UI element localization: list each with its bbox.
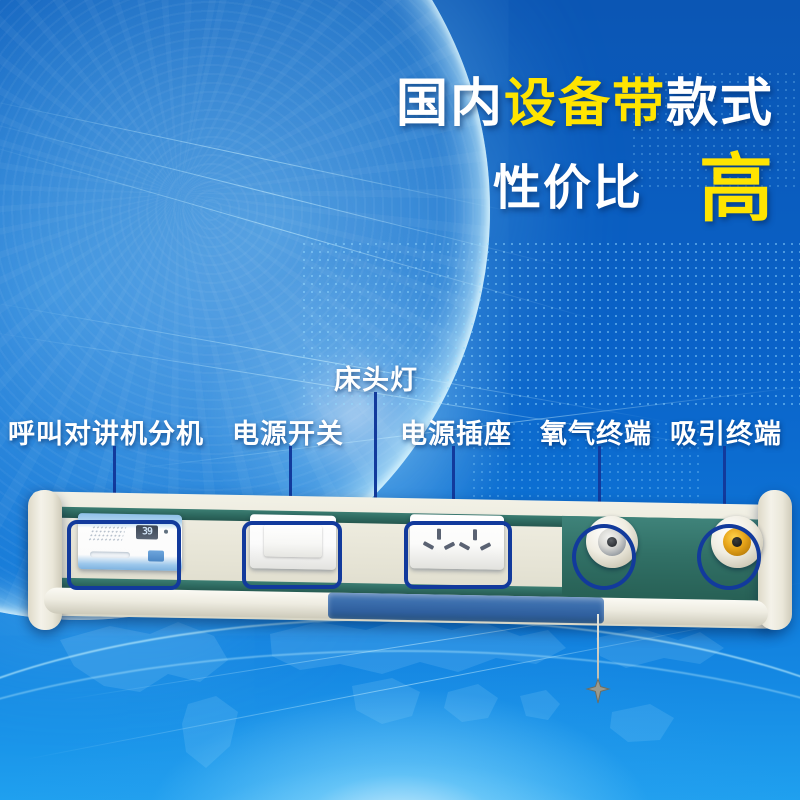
horizon-arc <box>0 650 800 800</box>
bedside-lamp-lens[interactable] <box>328 593 604 624</box>
callout-label-power-socket: 电源插座 <box>400 412 512 451</box>
callout-label-power-switch: 电源开关 <box>232 412 344 451</box>
highlight-circle-oxygen <box>572 524 636 590</box>
callout-label-suction-outlet: 吸引终端 <box>670 412 782 451</box>
headline-block: 国内设备带款式 性价比 高 <box>396 78 774 226</box>
headline-part-high: 高 <box>699 152 774 226</box>
highlight-box-intercom <box>67 520 181 590</box>
callout-label-oxygen-outlet: 氧气终端 <box>540 412 652 451</box>
headline-line-1: 国内设备带款式 <box>396 78 774 130</box>
headline-part-value: 性价比 <box>493 165 643 213</box>
highlight-box-power-socket <box>404 521 512 589</box>
headline-part-style: 款式 <box>666 75 774 133</box>
highlight-box-power-switch <box>242 521 342 589</box>
highlight-circle-suction <box>697 524 761 590</box>
headline-line-2: 性价比 高 <box>396 152 774 226</box>
banner-stage: 国内设备带款式 性价比 高 呼叫对讲机分机 电源开关 床头灯 电源插座 氧气终端… <box>0 0 800 800</box>
headline-part-domestic: 国内 <box>396 75 504 133</box>
callout-label-intercom: 呼叫对讲机分机 <box>8 412 204 451</box>
pull-cord-weight-icon[interactable] <box>585 678 611 704</box>
headline-part-equipment-belt: 设备带 <box>504 75 666 133</box>
pull-cord[interactable] <box>597 614 599 686</box>
